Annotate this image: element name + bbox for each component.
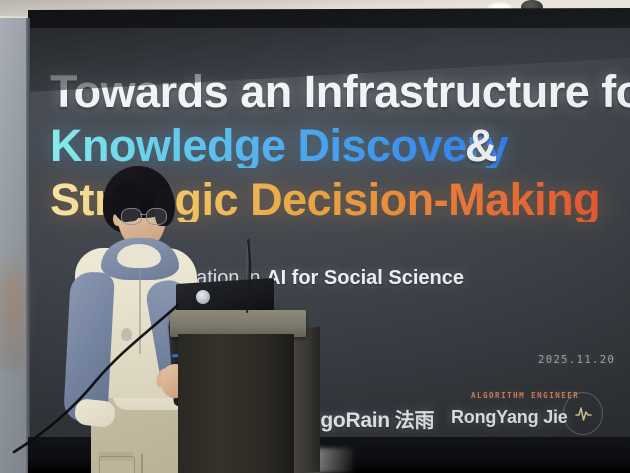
slide-title-line-2: Knowledge Discovery bbox=[50, 123, 508, 168]
hoodie-chest-logo bbox=[121, 328, 132, 341]
podium-top-surface bbox=[170, 310, 306, 337]
brand-algorain: AlgoRain法雨 bbox=[300, 404, 434, 433]
cargo-pocket bbox=[99, 456, 135, 473]
slide-subtitle-emphasis: AI for Social Science bbox=[266, 267, 464, 289]
slide-title-ampersand: & bbox=[465, 123, 498, 168]
pulse-waveform-icon bbox=[563, 392, 603, 435]
laptop-sticker-icon bbox=[196, 290, 210, 304]
slide-title-line-1: Towards an Infrastructure for bbox=[50, 69, 630, 114]
conference-photo-scene: Towards an Infrastructure for Knowledge … bbox=[0, 0, 630, 473]
screen-left-edge bbox=[26, 18, 30, 473]
lens-right bbox=[146, 208, 167, 225]
presenter-role-label: ALGORITHM ENGINEER bbox=[471, 391, 579, 400]
eyeglasses-icon bbox=[121, 208, 167, 223]
left-wall-reflection bbox=[0, 250, 26, 370]
brand-algorain-cjk: 法雨 bbox=[395, 408, 434, 432]
lens-left bbox=[121, 208, 142, 225]
podium-front-panel: 復旦大學 國家大學科技園 National Science Park of Fu… bbox=[178, 334, 294, 473]
sleeve-left-cuff bbox=[74, 398, 116, 428]
slide-date: 2025.11.20 bbox=[538, 354, 615, 366]
hoodie-zipper bbox=[139, 268, 141, 354]
pants-seam bbox=[141, 454, 143, 473]
presenter-name: RongYang Jie bbox=[451, 407, 568, 428]
hood-inner bbox=[117, 244, 161, 268]
